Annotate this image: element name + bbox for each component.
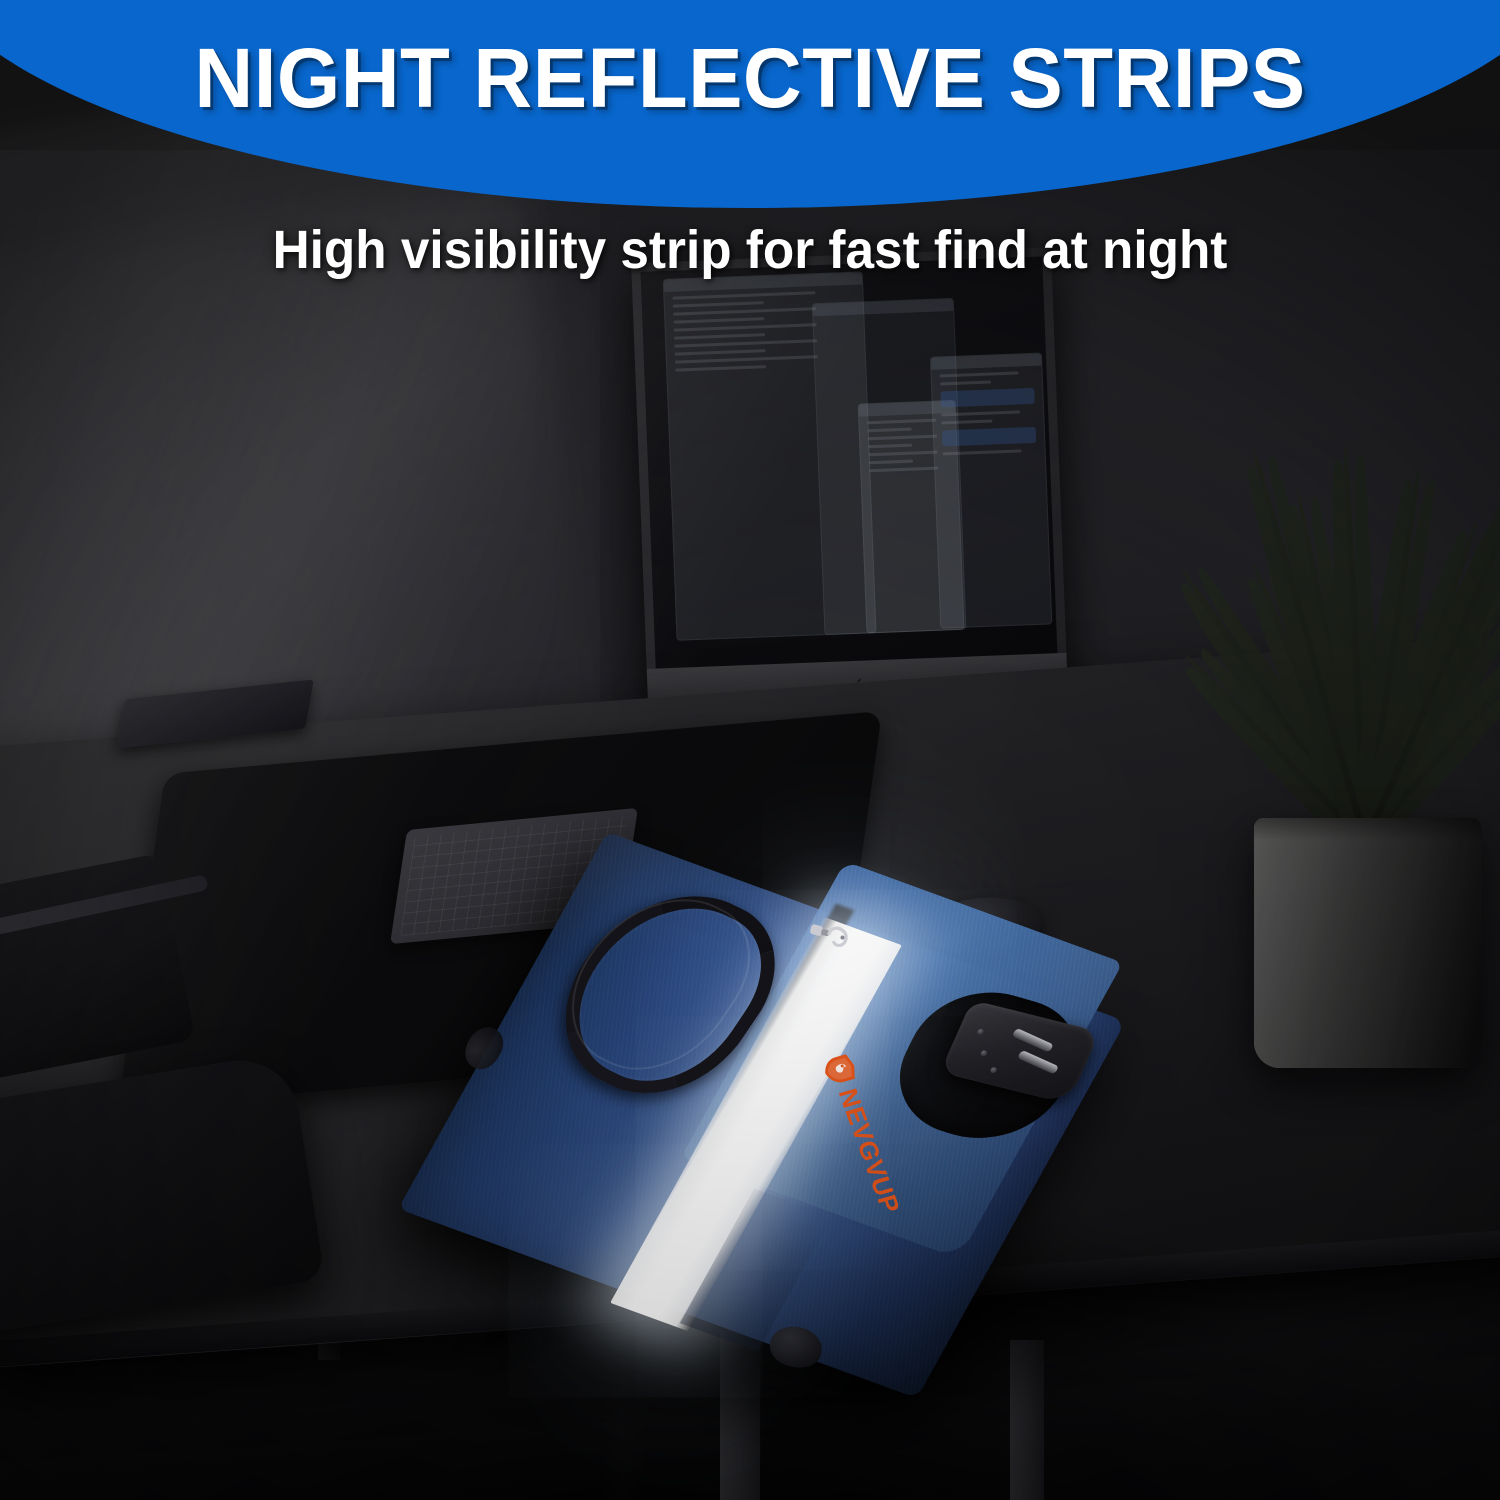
- window-titlebar: [931, 354, 1041, 370]
- text-line: [943, 449, 1022, 455]
- text-line: [673, 301, 764, 307]
- text-line: [675, 349, 766, 355]
- chat-bubble: [942, 427, 1037, 447]
- text-line: [674, 339, 817, 347]
- text-line: [941, 419, 992, 424]
- text-line: [869, 460, 913, 465]
- text-line: [868, 444, 912, 449]
- lock-dial[interactable]: [1017, 1050, 1059, 1075]
- text-line: [941, 410, 1020, 416]
- text-line: [869, 467, 938, 473]
- potted-palm-plant: [1212, 372, 1500, 842]
- plant-pot-shading: [1254, 818, 1482, 1068]
- text-line: [867, 419, 936, 425]
- text-line: [675, 355, 818, 363]
- text-line: [672, 291, 815, 299]
- lock-rivet: [989, 1067, 997, 1074]
- text-line: [868, 428, 912, 433]
- chat-bubble: [940, 388, 1035, 408]
- text-line: [869, 451, 938, 457]
- text-line: [940, 371, 1019, 377]
- text-line: [673, 307, 816, 315]
- page-title: NIGHT REFLECTIVE STRIPS: [0, 36, 1500, 120]
- product-marketing-image: NEVGVUP NIGHT REFLECTIVE STRIPS High vis…: [0, 0, 1500, 1500]
- imac-monitor: [631, 247, 1069, 733]
- lock-rivet: [976, 1028, 984, 1035]
- window-titlebar: [813, 299, 953, 316]
- subtitle: High visibility strip for fast find at n…: [38, 222, 1463, 279]
- text-line: [675, 365, 766, 371]
- text-line: [674, 333, 765, 339]
- monitor-screen: [640, 256, 1057, 668]
- text-line: [674, 323, 817, 331]
- lock-dial[interactable]: [1012, 1028, 1054, 1053]
- text-line: [940, 381, 991, 386]
- document-bag: NEVGVUP: [452, 895, 1252, 1395]
- screen-window-d: [930, 353, 1052, 629]
- text-line: [673, 317, 764, 323]
- text-line: [868, 435, 937, 441]
- lock-rivet: [980, 1050, 988, 1057]
